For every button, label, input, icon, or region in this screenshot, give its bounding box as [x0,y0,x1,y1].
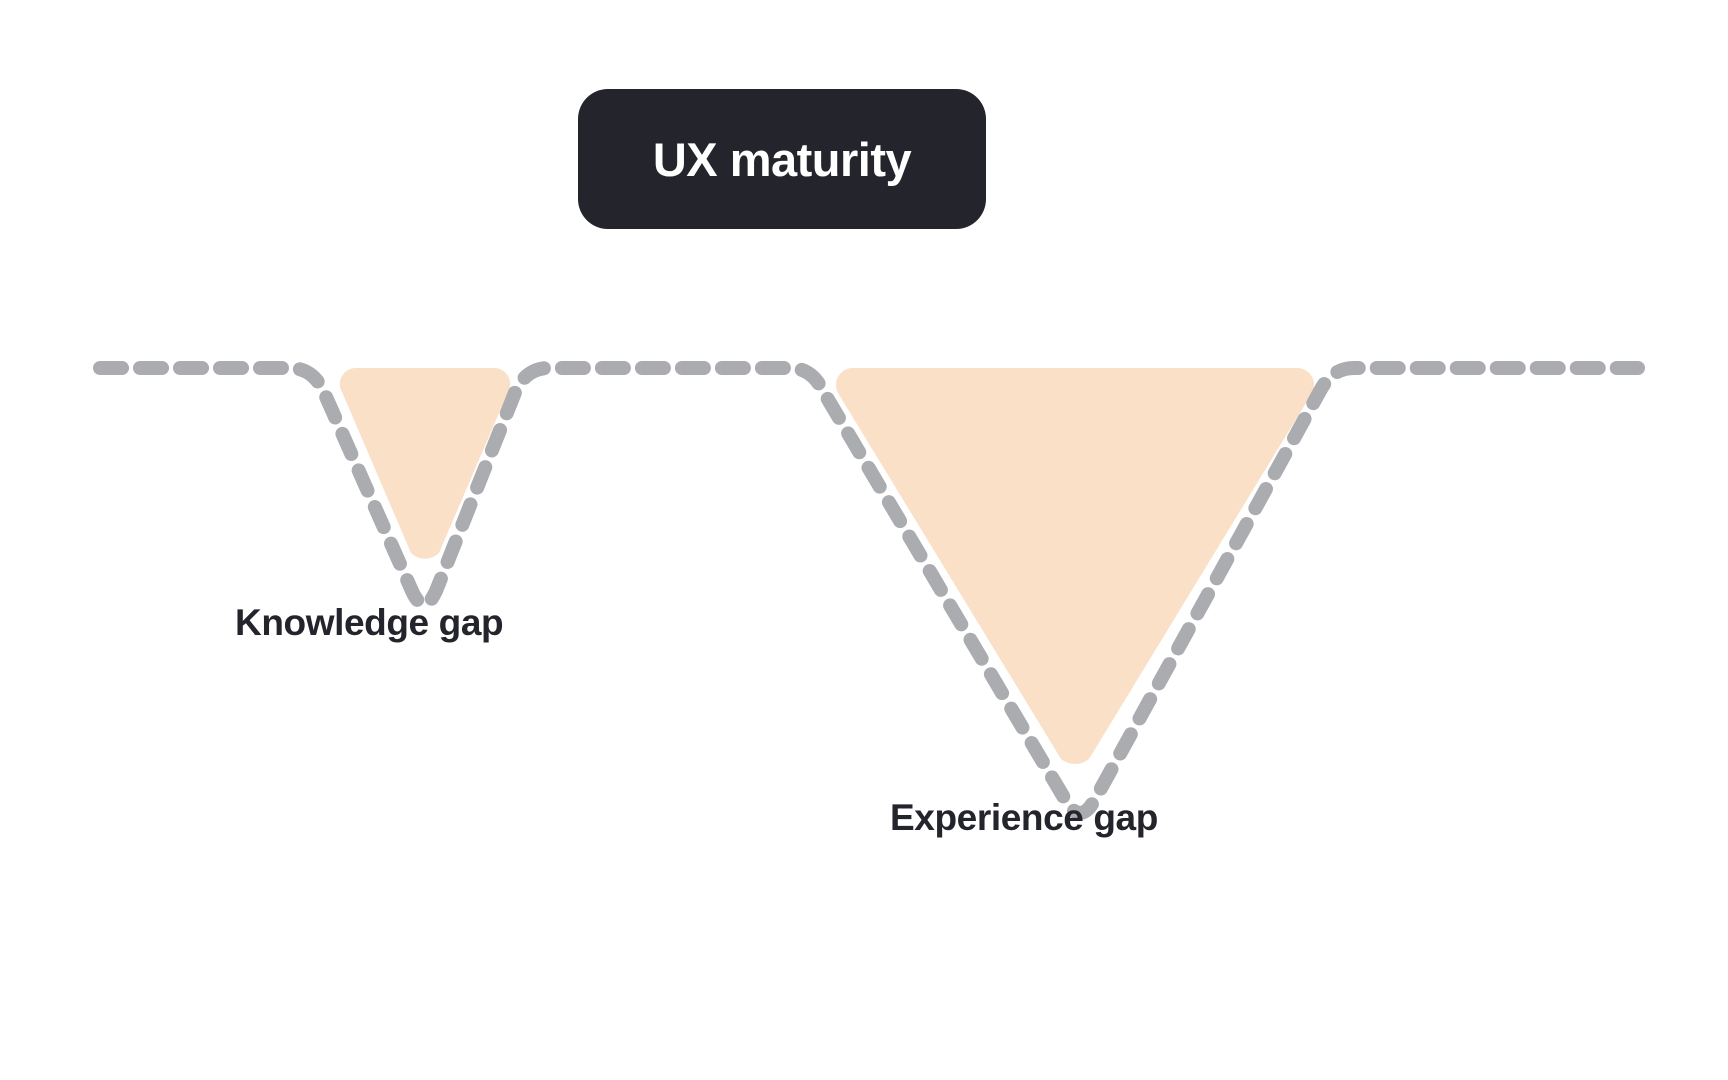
experience-gap-label: Experience gap [890,799,1158,836]
knowledge-gap-label: Knowledge gap [235,604,503,641]
experience-gap-triangle [836,368,1314,764]
diagram-canvas: UX maturity Knowledge gap Experience gap [0,0,1728,1080]
ux-maturity-gap-diagram [0,0,1728,1080]
